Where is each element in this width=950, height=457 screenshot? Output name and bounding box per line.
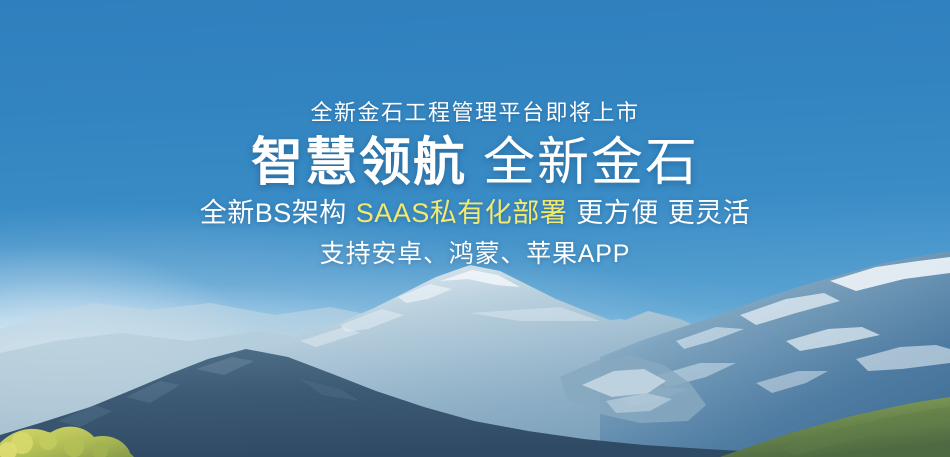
hero-banner: 全新金石工程管理平台即将上市 智慧领航全新金石 全新BS架构SAAS私有化部署更…	[0, 0, 950, 457]
headline-strong-part: 智慧领航	[251, 134, 467, 192]
subline-part-convenient: 更方便	[576, 198, 659, 228]
subline-accent-saas: SAAS私有化部署	[356, 198, 568, 228]
subline-part-flexible: 更灵活	[668, 198, 751, 228]
headline-light-part: 全新金石	[483, 134, 699, 192]
hero-copy-block: 全新金石工程管理平台即将上市 智慧领航全新金石 全新BS架构SAAS私有化部署更…	[0, 98, 950, 271]
hero-tagline: 全新金石工程管理平台即将上市	[0, 98, 950, 128]
hero-subline-features: 全新BS架构SAAS私有化部署更方便更灵活	[0, 196, 950, 231]
subline-part-architecture: 全新BS架构	[200, 198, 347, 228]
hero-headline: 智慧领航全新金石	[0, 134, 950, 192]
hero-subline-platforms: 支持安卓、鸿蒙、苹果APP	[0, 238, 950, 271]
